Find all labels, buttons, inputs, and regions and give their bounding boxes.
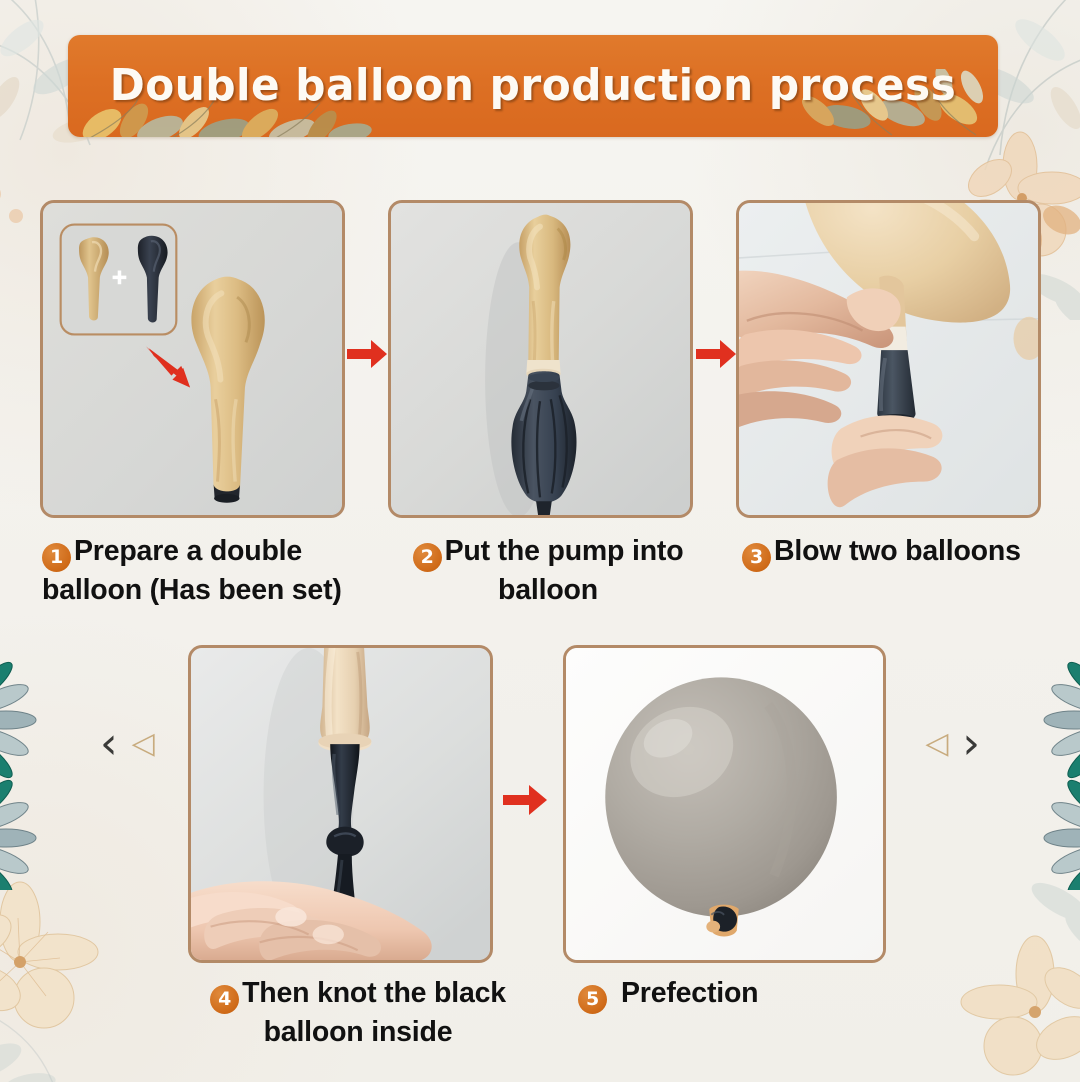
step-3-panel <box>736 200 1041 518</box>
chevron-ornament-right: ◁ › <box>925 722 980 766</box>
arrow-step2-to-step3 <box>694 337 738 371</box>
chevron-ornament-left: ‹ ◁ <box>100 722 155 766</box>
step-1-number: 1 <box>42 543 71 572</box>
step-5-panel <box>563 645 886 963</box>
step-4-panel <box>188 645 493 963</box>
diamond-left-icon: ◁ <box>132 729 155 759</box>
chevron-left-icon: ‹ <box>100 722 118 766</box>
floral-decoration-bottom-right <box>870 862 1080 1082</box>
floral-decoration-bottom-left <box>0 852 210 1082</box>
step-3-caption-line1: Blow two balloons <box>774 535 1021 567</box>
step-2-panel <box>388 200 693 518</box>
pump-in-balloon-photo <box>391 203 690 515</box>
chevron-right-icon: › <box>962 722 980 766</box>
infographic-page: ‹ ◁ ◁ › <box>0 0 1080 1082</box>
step-2-caption: 2Put the pump into balloon <box>398 533 698 610</box>
arrow-step4-to-step5 <box>501 782 549 818</box>
step-1-caption-line1: Prepare a double <box>74 535 302 567</box>
step-1-caption-line2: balloon (Has been set) <box>42 574 342 606</box>
step-4-caption: 4Then knot the black balloon inside <box>198 975 518 1052</box>
flower-ornament-left <box>0 660 128 890</box>
arrow-step1-to-step2 <box>345 337 389 371</box>
step-3-caption: 3Blow two balloons <box>742 533 1062 572</box>
step-4-caption-line2: balloon inside <box>264 1016 453 1048</box>
step-4-number: 4 <box>210 985 239 1014</box>
deflated-double-balloon-photo <box>43 203 342 515</box>
diamond-right-icon: ◁ <box>925 729 948 759</box>
step-1-caption: 1Prepare a double balloon (Has been set) <box>42 533 372 610</box>
step-2-caption-line2: balloon <box>498 574 598 606</box>
step-5-caption-line1: Prefection <box>621 977 758 1009</box>
step-4-caption-line1: Then knot the black <box>242 977 506 1009</box>
step-5-caption: 5Prefection <box>578 975 878 1014</box>
title-banner: Double balloon production process <box>68 35 998 137</box>
step-3-number: 3 <box>742 543 771 572</box>
knot-black-balloon-photo <box>191 648 490 960</box>
blowing-balloons-photo <box>739 203 1038 515</box>
step-2-caption-line1: Put the pump into <box>445 535 684 567</box>
flower-ornament-right <box>952 660 1080 890</box>
step-5-number: 5 <box>578 985 607 1014</box>
finished-balloon-photo <box>566 648 883 960</box>
step-2-number: 2 <box>413 543 442 572</box>
step-1-panel <box>40 200 345 518</box>
page-title: Double balloon production process <box>87 35 980 137</box>
